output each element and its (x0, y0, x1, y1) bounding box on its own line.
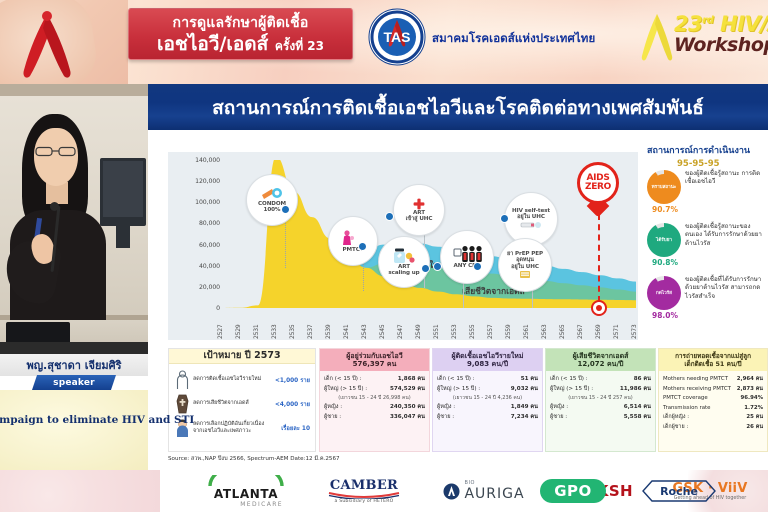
slide-title: สถานการณ์การติดเชื้อเอชไอวีและโรคติดต่อท… (148, 93, 768, 123)
row-key: ผู้ใหญ่ (> 15 ปี) : (437, 385, 480, 395)
chart-x-tick: 2543 (361, 325, 368, 339)
speaker-face (34, 128, 78, 186)
sponsor-gpo-name: GPO (554, 482, 592, 500)
goal-item: ลดการติดเชื้อเอชไอวีรายใหม่ <1,000 ราย (175, 370, 310, 390)
chart-x-tick: 2565 (559, 325, 566, 339)
callout-dot-selftest[interactable] (500, 214, 509, 223)
callout-art-uhc[interactable]: ART เข้าสู่ UHC (393, 184, 445, 236)
chart-x-tick: 2553 (451, 325, 458, 339)
stat-row: ได้รับยา90.8%ของผู้ติดเชื้อรู้สถานะของตน… (645, 223, 768, 275)
speaker-name-bar: พญ.สุชาดา เจียมศิริ (0, 354, 148, 376)
data-row: PMTCT coverage 96.94% (663, 394, 763, 404)
aids-zero-target-marker (591, 300, 607, 316)
goal-panel-body: ลดการติดเชื้อเอชไอวีรายใหม่ <1,000 ราย ล… (169, 364, 315, 444)
row-value: 7,234 คน (511, 413, 538, 423)
goal-panel-header: เป้าหมาย ปี 2573 (169, 349, 315, 364)
row-value: 25 คน (746, 413, 763, 423)
row-key: เด็ก (< 15 ปี) : (550, 375, 588, 385)
chart-x-tick: 2541 (343, 325, 350, 339)
row-value: 1,868 คน (398, 375, 425, 385)
goal-item-value: <4,000 ราย (272, 399, 310, 409)
chart-x-tick: 2551 (433, 325, 440, 339)
aids-deaths-header: ผู้เสียชีวิตจากเอดส์ 12,072 คน/ปี (546, 349, 655, 371)
chart-y-tick: 80,000 (174, 220, 220, 227)
red-cross-icon (413, 198, 425, 210)
data-row: ผู้ชาย : 336,047 คน (324, 413, 425, 423)
aids-zero-badge: AIDS ZERO (577, 162, 619, 204)
data-row: ผู้ใหญ่ (> 15 ปี) : 11,986 คน (550, 385, 651, 395)
banner-title-line1: การดูแลรักษาผู้ติดเชื้อ (129, 14, 352, 32)
pmtct-header-line2: เด็กติดเชื้อ 51 คน/ปี (661, 360, 765, 368)
banner-title-block: การดูแลรักษาผู้ติดเชื้อ เอชไอวี/เอดส์ คร… (128, 8, 353, 60)
row-key: ผู้หญิง : (437, 403, 455, 413)
association-name: สมาคมโรคเอดส์แห่งประเทศไทย (432, 30, 595, 48)
chart-x-tick: 2537 (307, 325, 314, 339)
chart-y-tick: 140,000 (174, 157, 220, 164)
yellow-ribbon-icon (640, 10, 674, 64)
stats-list: ทราบสถานะ90.7%ของผู้ติดเชื้อรู้สถานะ การ… (645, 170, 768, 328)
chart-y-tick: 60,000 (174, 242, 220, 249)
data-row: เด็กผู้ชาย : 26 คน (663, 423, 763, 433)
stats-target-label: 95-95-95 (645, 159, 768, 169)
callout-prep-pep[interactable]: ยา PrEP PEP อุดหนุน อยู่ใน UHC (498, 238, 552, 292)
stat-ring-inner: ได้รับยา (651, 227, 677, 253)
microphone-head (50, 202, 59, 211)
data-row: ผู้หญิง : 240,350 คน (324, 403, 425, 413)
data-row: ผู้ใหญ่ (> 15 ปี) : 9,032 คน (437, 385, 538, 395)
sponsor-roche[interactable]: Roche (642, 480, 716, 502)
stat-description: ของผู้ติดเชื้อรู้สถานะ การติดเชื้อเอชไอว… (685, 170, 767, 187)
workshop-brand: 23rd HIV/AIDS Workshop 2024 (640, 6, 768, 68)
red-ribbon-icon (18, 4, 76, 84)
slide-title-bar: สถานการณ์การติดเชื้อเอชไอวีและโรคติดต่อท… (148, 84, 768, 130)
chart-x-tick: 2535 (289, 325, 296, 339)
sponsor-gpo[interactable]: GPO (540, 479, 606, 503)
stat-ring: กดไวรัส (647, 276, 681, 310)
glasses-icon (35, 146, 77, 157)
banner-title-line2: เอชไอวี/เอดส์ ครั้งที่ 23 (129, 32, 352, 58)
aids-deaths-body: เด็ก (< 15 ปี) : 86 คน ผู้ใหญ่ (> 15 ปี)… (546, 371, 655, 424)
aids-deaths-header-line2: 12,072 คน/ปี (548, 360, 653, 368)
row-value: 86 คน (634, 375, 651, 385)
row-value: 2,873 คน (737, 385, 763, 395)
row-key: เด็ก (< 15 ปี) : (437, 375, 475, 385)
callout-dot-pmtct[interactable] (358, 242, 367, 251)
stat-row: กดไวรัส98.0%ของผู้ติดเชื้อที่ได้รับการรั… (645, 276, 768, 328)
plhiv-youth-note: (เยาวชน 15 - 24 ปี 26,998 คน) (324, 394, 425, 403)
stat-row: ทราบสถานะ90.7%ของผู้ติดเชื้อรู้สถานะ การ… (645, 170, 768, 222)
chart-x-tick: 2547 (397, 325, 404, 339)
campaign-tagline: Campaign to eliminate HIV and STI (0, 414, 144, 426)
row-key: ผู้ชาย : (550, 413, 567, 423)
row-value: 6,514 คน (624, 403, 651, 413)
goal-item: ลดการเสียชีวิตจากเอดส์ <4,000 ราย (175, 394, 310, 414)
row-key: ผู้หญิง : (550, 403, 568, 413)
desk-front-edge (0, 342, 148, 354)
prep-icon (519, 270, 531, 279)
new-infections-header-line2: 9,083 คน/ปี (435, 360, 540, 368)
row-value: 1,849 คน (511, 403, 538, 413)
row-value: 11,986 คน (620, 385, 651, 395)
speaker-video-feed[interactable] (0, 84, 148, 354)
plhiv-panel-body: เด็ก (< 15 ปี) : 1,868 คน ผู้ใหญ่ (> 15 … (320, 371, 429, 424)
stat-ring: ทราบสถานะ (647, 170, 681, 204)
pmtct-header: การถ่ายทอดเชื้อจากแม่สู่ลูก เด็กติดเชื้อ… (659, 349, 767, 371)
aids-zero-pin[interactable]: AIDS ZERO (577, 162, 619, 214)
stat-ring: ได้รับยา (647, 223, 681, 257)
callout-dot-prep[interactable] (473, 262, 482, 271)
row-value: 5,558 คน (624, 413, 651, 423)
data-row: Mothers needing PMTCT 2,964 คน (663, 375, 763, 385)
monitor-shape (100, 158, 146, 226)
chart-x-tick: 2573 (631, 325, 638, 339)
row-key: ผู้หญิง : (324, 403, 342, 413)
speaker-figure (10, 114, 102, 322)
row-key: Mothers receiving PMTCT (663, 385, 731, 395)
monitor-stand (116, 226, 130, 248)
callout-pmtct[interactable]: PMTCT (328, 216, 378, 266)
row-value: 96.94% (741, 394, 763, 404)
event-banner: การดูแลรักษาผู้ติดเชื้อ เอชไอวี/เอดส์ คร… (0, 0, 768, 84)
callout-condom[interactable]: CONDOM 100% (246, 174, 298, 226)
workshop-line2: Workshop 2024 (674, 34, 768, 56)
goal-panel: เป้าหมาย ปี 2573 ลดการติดเชื้อเอชไอวีราย… (168, 348, 316, 452)
banner-title-edition: ครั้งที่ 23 (275, 39, 324, 53)
data-row: ผู้ชาย : 7,234 คน (437, 413, 538, 423)
row-key: PMTCT coverage (663, 394, 708, 404)
selftest-icon (520, 220, 542, 230)
new-infections-panel: ผู้ติดเชื้อเอชไอวีรายใหม่ 9,083 คน/ปี เด… (432, 348, 543, 452)
coffin-icon (175, 394, 190, 414)
new-infections-body: เด็ก (< 15 ปี) : 51 คน ผู้ใหญ่ (> 15 ปี)… (433, 371, 542, 424)
chart-y-tick: 100,000 (174, 199, 220, 206)
stat-description: ของผู้ติดเชื้อรู้สถานะของตนเอง ได้รับการ… (685, 223, 767, 248)
stat-ring-inner: กดไวรัส (651, 280, 677, 306)
workshop-ordinal-suffix: rd (702, 15, 713, 26)
chart-x-tick: 2539 (325, 325, 332, 339)
chart-x-tick: 2561 (523, 325, 530, 339)
row-value: 9,032 คน (511, 385, 538, 395)
chart-y-tick: 40,000 (174, 263, 220, 270)
aids-deaths-youth-note: (เยาวชน 15 - 24 ปี 257 คน) (550, 394, 651, 403)
video-wall-band-top (0, 84, 148, 96)
row-key: เด็กผู้ชาย : (663, 423, 688, 433)
goal-item-label: ลดการเลือกปฏิบัติอันเกี่ยวเนื่องจากเอชไอ… (193, 421, 272, 436)
row-value: 240,350 คน (390, 403, 425, 413)
chart-x-tick: 2569 (595, 325, 602, 339)
aids-zero-dashed-line (598, 214, 600, 302)
callout-dot-any-cd4[interactable] (433, 262, 442, 271)
lower-third-background (0, 390, 148, 470)
row-key: Mothers needing PMTCT (663, 375, 728, 385)
chart-x-tick: 2563 (541, 325, 548, 339)
chart-x-axis: 2527252925312533253525372539254125432545… (222, 308, 636, 340)
pill-bottle-icon (391, 248, 417, 264)
data-row: ผู้หญิง : 1,849 คน (437, 403, 538, 413)
stat-percent: 98.0% (647, 311, 683, 320)
screenshot-root: การดูแลรักษาผู้ติดเชื้อ เอชไอวี/เอดส์ คร… (0, 0, 768, 512)
data-row: เด็ก (< 15 ปี) : 86 คน (550, 375, 651, 385)
chart-x-tick: 2555 (469, 325, 476, 339)
chart-x-tick: 2567 (577, 325, 584, 339)
speaker-role-label: speaker (53, 378, 95, 388)
chart-y-tick: 20,000 (174, 284, 220, 291)
chart-x-tick: 2529 (235, 325, 242, 339)
data-row: เด็ก (< 15 ปี) : 1,868 คน (324, 375, 425, 385)
goal-item-value: เรื่อยละ 10 (272, 423, 310, 433)
row-value: 2,964 คน (737, 375, 763, 385)
operations-status-panel: สถานการณ์การดำเนินงาน 95-95-95 ทราบสถานะ… (645, 143, 768, 341)
row-value: 51 คน (521, 375, 538, 385)
pmtct-body: Mothers needing PMTCT 2,964 คน Mothers r… (659, 371, 767, 434)
data-row: Transmission rate 1.72% (663, 404, 763, 414)
chart-x-tick: 2533 (271, 325, 278, 339)
data-row: ผู้หญิง : 6,514 คน (550, 403, 651, 413)
laptop (6, 322, 70, 344)
plhiv-header-line1: ผู้อยู่ร่วมกับเอชไอวี (322, 352, 427, 360)
callout-dot-condom[interactable] (281, 205, 290, 214)
callout-art-scaling-line2: scaling up (388, 270, 419, 276)
speaker-name: พญ.สุชาดา เจียมศิริ (26, 356, 121, 374)
data-row: ผู้ใหญ่ (> 15 ปี) : 574,529 คน (324, 385, 425, 395)
stat-percent: 90.7% (647, 205, 683, 214)
data-row: เด็กผู้หญิง : 25 คน (663, 413, 763, 423)
sponsor-footer-overlay: GPO Roche (0, 470, 768, 512)
chart-x-tick: 2557 (487, 325, 494, 339)
chart-x-tick: 2549 (415, 325, 422, 339)
chart-x-tick: 2559 (505, 325, 512, 339)
new-infections-header-line1: ผู้ติดเชื้อเอชไอวีรายใหม่ (435, 352, 540, 360)
stats-panel-title: สถานการณ์การดำเนินงาน (645, 143, 768, 157)
row-key: เด็ก (< 15 ปี) : (324, 375, 362, 385)
chart-x-tick: 2545 (379, 325, 386, 339)
data-row: เด็ก (< 15 ปี) : 51 คน (437, 375, 538, 385)
pmtct-panel: การถ่ายทอดเชื้อจากแม่สู่ลูก เด็กติดเชื้อ… (658, 348, 768, 452)
callout-any-cd4[interactable]: ANY CD4 (440, 230, 494, 284)
aids-deaths-header-line1: ผู้เสียชีวิตจากเอดส์ (548, 352, 653, 360)
chart-y-tick: 120,000 (174, 178, 220, 185)
person-icon (175, 370, 190, 390)
callout-dot-art-uhc[interactable] (385, 212, 394, 221)
chart-x-tick: 2527 (217, 325, 224, 339)
row-value: 1.72% (744, 404, 763, 414)
pmtct-header-line1: การถ่ายทอดเชื้อจากแม่สู่ลูก (661, 352, 765, 360)
svg-text:TAS: TAS (384, 29, 411, 45)
row-value: 336,047 คน (390, 413, 425, 423)
new-infections-youth-note: (เยาวชน 15 - 24 ปี 4,236 คน) (437, 394, 538, 403)
callout-art-uhc-line2: เข้าสู่ UHC (406, 216, 433, 222)
chart-y-tick: 0 (174, 305, 220, 312)
condom-icon (261, 187, 283, 201)
row-key: ผู้ใหญ่ (> 15 ปี) : (324, 385, 367, 395)
data-row: Mothers receiving PMTCT 2,873 คน (663, 385, 763, 395)
callout-art-scaling-up[interactable]: ART scaling up (378, 236, 430, 288)
people-icon (452, 245, 482, 263)
row-key: ผู้ชาย : (437, 413, 454, 423)
chart-x-tick: 2571 (613, 325, 620, 339)
source-note: Source: สวพ.,NAP ปีงบ 2566, Spectrum-AEM… (168, 455, 340, 463)
epidemic-curve-chart: 140,000120,000100,00080,00060,00040,0002… (168, 152, 638, 340)
tas-logo-icon: TAS (368, 8, 426, 66)
callout-condom-line2: 100% (264, 207, 281, 213)
data-row: ผู้ชาย : 5,558 คน (550, 413, 651, 423)
stat-description: ของผู้ติดเชื้อที่ได้รับการรักษาด้วยยาต้า… (685, 276, 767, 301)
goal-item-value: <1,000 ราย (272, 375, 310, 385)
row-key: Transmission rate (663, 404, 711, 414)
goal-item: ลดการเลือกปฏิบัติอันเกี่ยวเนื่องจากเอชไอ… (175, 418, 310, 438)
aids-deaths-panel: ผู้เสียชีวิตจากเอดส์ 12,072 คน/ปี เด็ก (… (545, 348, 656, 452)
hand-ribbon-photo (0, 0, 128, 84)
sponsor-roche-name: Roche (660, 485, 698, 498)
row-key: ผู้ใหญ่ (> 15 ปี) : (550, 385, 593, 395)
stat-ring-inner: ทราบสถานะ (651, 174, 677, 200)
chart-x-tick: 2531 (253, 325, 260, 339)
aids-zero-line2: ZERO (585, 183, 611, 192)
row-key: เด็กผู้หญิง : (663, 413, 689, 423)
goal-item-label: ลดการติดเชื้อเอชไอวีรายใหม่ (193, 376, 272, 383)
stat-percent: 90.8% (647, 258, 683, 267)
row-value: 574,529 คน (390, 385, 425, 395)
chart-y-axis: 140,000120,000100,00080,00060,00040,0002… (168, 152, 220, 340)
row-key: ผู้ชาย : (324, 413, 341, 423)
new-infections-header: ผู้ติดเชื้อเอชไอวีรายใหม่ 9,083 คน/ปี (433, 349, 542, 371)
row-value: 26 คน (746, 423, 763, 433)
speaker-role-chip: speaker (32, 375, 116, 390)
callout-dot-art-scaling[interactable] (421, 264, 430, 273)
goal-item-label: ลดการเสียชีวิตจากเอดส์ (193, 400, 272, 407)
plhiv-panel: ผู้อยู่ร่วมกับเอชไอวี 576,397 คน เด็ก (<… (319, 348, 430, 452)
plhiv-panel-header: ผู้อยู่ร่วมกับเอชไอวี 576,397 คน (320, 349, 429, 371)
plhiv-header-line2: 576,397 คน (322, 360, 427, 368)
workshop-line1: 23rd HIV/AIDS (674, 12, 768, 36)
